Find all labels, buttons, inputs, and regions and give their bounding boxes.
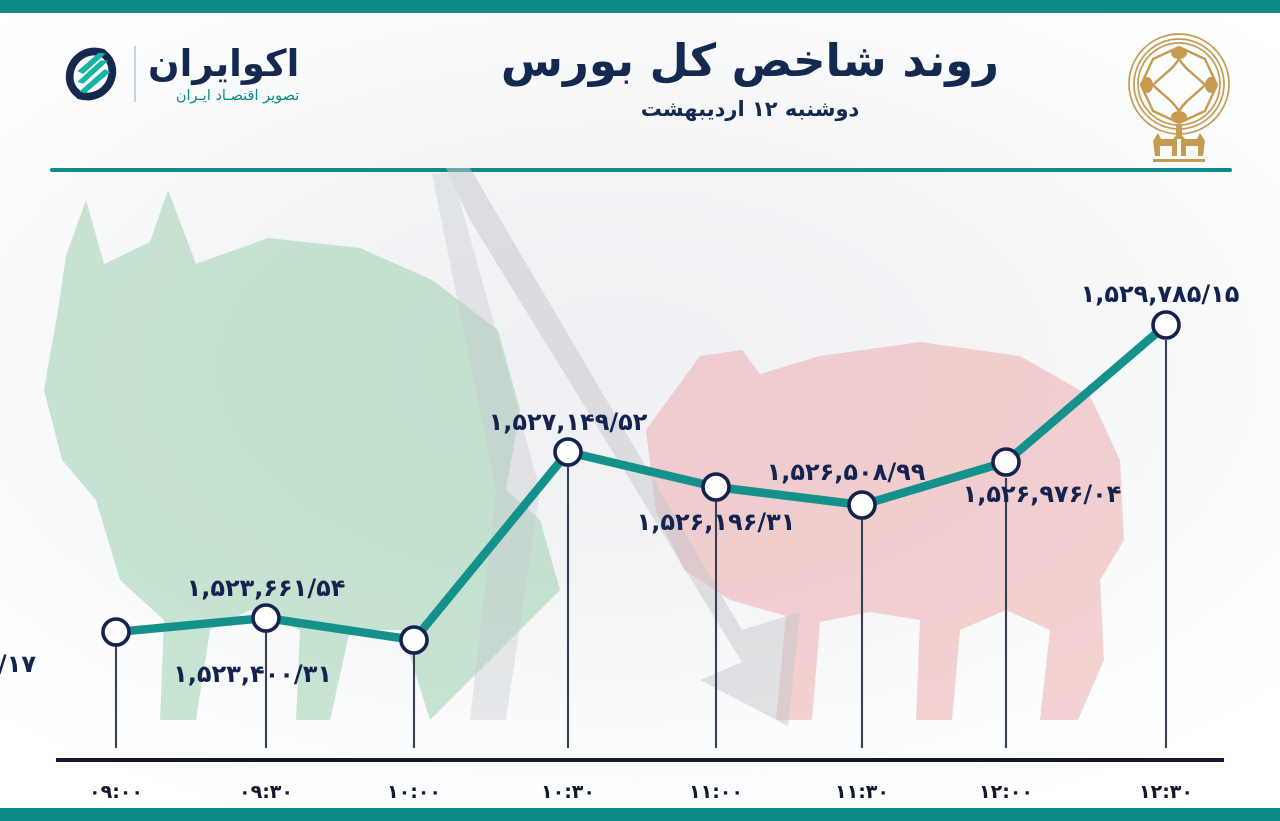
data-point-label: ۱,۵۲۳,۴۷۱/۱۷ (0, 650, 36, 678)
title-block: روند شاخص کل بورس دوشنبه ۱۲ اردیبهشت (390, 35, 1110, 121)
data-point-label: ۱,۵۲۶,۱۹۶/۳۱ (637, 508, 796, 536)
data-point-label: ۱,۵۲۳,۶۶۱/۵۴ (187, 574, 346, 602)
data-point-label: ۱,۵۲۷,۱۴۹/۵۲ (489, 408, 648, 436)
data-point-label: ۱,۵۲۹,۷۸۵/۱۵ (1081, 280, 1240, 308)
data-point-marker[interactable] (993, 449, 1019, 475)
x-tick-label: ۱۱:۳۰ (835, 781, 889, 803)
data-point-label: ۱,۵۲۳,۴۰۰/۳۱ (173, 660, 332, 688)
x-tick-label: ۱۲:۳۰ (1139, 781, 1193, 803)
brand-tagline: تصویر اقتصـاد ایـران (176, 89, 299, 104)
x-tick-label: ۱۲:۰۰ (979, 781, 1033, 803)
top-accent-bar (0, 0, 1280, 13)
bottom-accent-bar (0, 808, 1280, 821)
line-chart: ۱,۵۲۳,۴۷۱/۱۷ ۱,۵۲۳,۶۶۱/۵۴ ۱,۵۲۳,۴۰۰/۳۱ ۱… (0, 160, 1280, 808)
brand-divider (134, 46, 136, 102)
x-tick-label: ۰۹:۳۰ (239, 781, 293, 803)
brand-name: اکوایران (148, 45, 299, 82)
infographic-root: اکوایران تصویر اقتصـاد ایـران روند شاخص … (0, 0, 1280, 821)
data-point-marker[interactable] (401, 627, 427, 653)
x-tick-label: ۱۰:۳۰ (541, 781, 595, 803)
data-point-marker[interactable] (1153, 312, 1179, 338)
data-point-label: ۱,۵۲۶,۹۷۶/۰۴ (963, 480, 1122, 508)
data-point-marker[interactable] (555, 439, 581, 465)
ecoiran-logo-icon (60, 43, 122, 105)
x-tick-label: ۰۹:۰۰ (89, 781, 143, 803)
page-subtitle: دوشنبه ۱۲ اردیبهشت (390, 97, 1110, 121)
data-point-marker[interactable] (849, 492, 875, 518)
tehran-stock-exchange-emblem-icon (1123, 29, 1235, 165)
x-axis-tick-labels: ۰۹:۰۰ ۰۹:۳۰ ۱۰:۰۰ ۱۰:۳۰ ۱۱:۰۰ ۱۱:۳۰ ۱۲:۰… (89, 781, 1193, 803)
data-point-marker[interactable] (253, 605, 279, 631)
header: اکوایران تصویر اقتصـاد ایـران روند شاخص … (0, 13, 1280, 159)
brand-text: اکوایران تصویر اقتصـاد ایـران (148, 45, 299, 104)
x-tick-label: ۱۱:۰۰ (689, 781, 743, 803)
data-point-marker[interactable] (703, 474, 729, 500)
page-title: روند شاخص کل بورس (390, 35, 1110, 87)
data-point-label: ۱,۵۲۶,۵۰۸/۹۹ (767, 458, 926, 486)
brand-logo: اکوایران تصویر اقتصـاد ایـران (60, 43, 299, 105)
data-point-marker[interactable] (103, 619, 129, 645)
x-tick-label: ۱۰:۰۰ (387, 781, 441, 803)
plot-area: ۱,۵۲۳,۴۷۱/۱۷ ۱,۵۲۳,۶۶۱/۵۴ ۱,۵۲۳,۴۰۰/۳۱ ۱… (0, 160, 1280, 808)
